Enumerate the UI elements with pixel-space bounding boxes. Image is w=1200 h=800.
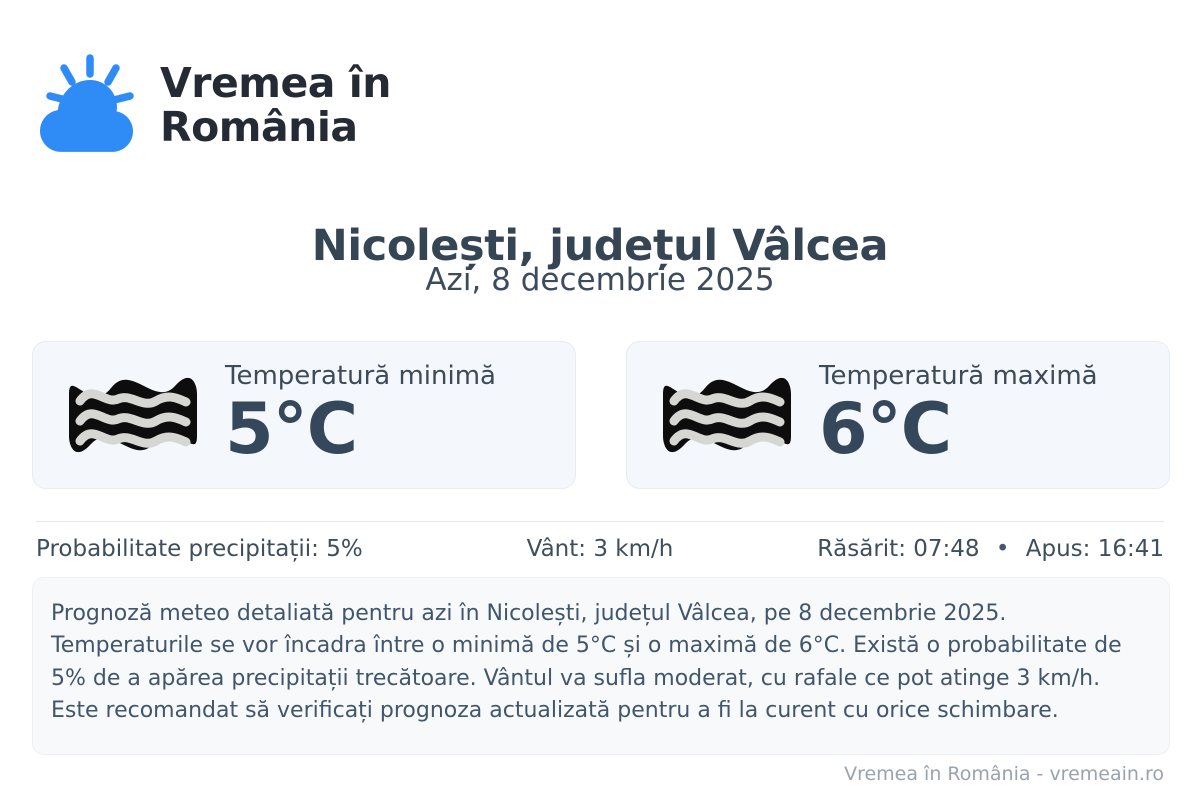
fog-waves-icon xyxy=(661,374,793,456)
stat-sunrise: Răsărit: 07:48 xyxy=(817,536,979,562)
card-max-value: 6°C xyxy=(819,394,1098,465)
stat-precipitation: Probabilitate precipitații: 5% xyxy=(36,536,412,562)
brand-logo[interactable]: Vremea în România xyxy=(36,52,391,158)
brand-name: Vremea în România xyxy=(160,61,391,150)
fog-waves-icon xyxy=(67,374,199,456)
forecast-description: Prognoză meteo detaliată pentru azi în N… xyxy=(32,577,1170,755)
stat-wind: Vânt: 3 km/h xyxy=(412,536,788,562)
card-max-body: Temperatură maximă 6°C xyxy=(819,361,1098,466)
sun-cloud-icon xyxy=(36,52,144,158)
temperature-cards: Temperatură minimă 5°C Temperatură maxim… xyxy=(32,341,1170,489)
stats-divider xyxy=(36,521,1164,522)
weather-page: Vremea în România Nicolești, județul Vâl… xyxy=(0,0,1200,800)
card-min-value: 5°C xyxy=(225,394,496,465)
card-temperature-max: Temperatură maximă 6°C xyxy=(626,341,1170,489)
card-temperature-min: Temperatură minimă 5°C xyxy=(32,341,576,489)
bullet-separator-icon: • xyxy=(996,536,1010,562)
stat-sun-times: Răsărit: 07:48 • Apus: 16:41 xyxy=(788,536,1164,562)
card-min-body: Temperatură minimă 5°C xyxy=(225,361,496,466)
page-date: Azi, 8 decembrie 2025 xyxy=(0,262,1200,298)
footer-attribution: Vremea în România - vremeain.ro xyxy=(844,763,1164,785)
stat-sunset: Apus: 16:41 xyxy=(1026,536,1164,562)
stats-row: Probabilitate precipitații: 5% Vânt: 3 k… xyxy=(36,536,1164,562)
